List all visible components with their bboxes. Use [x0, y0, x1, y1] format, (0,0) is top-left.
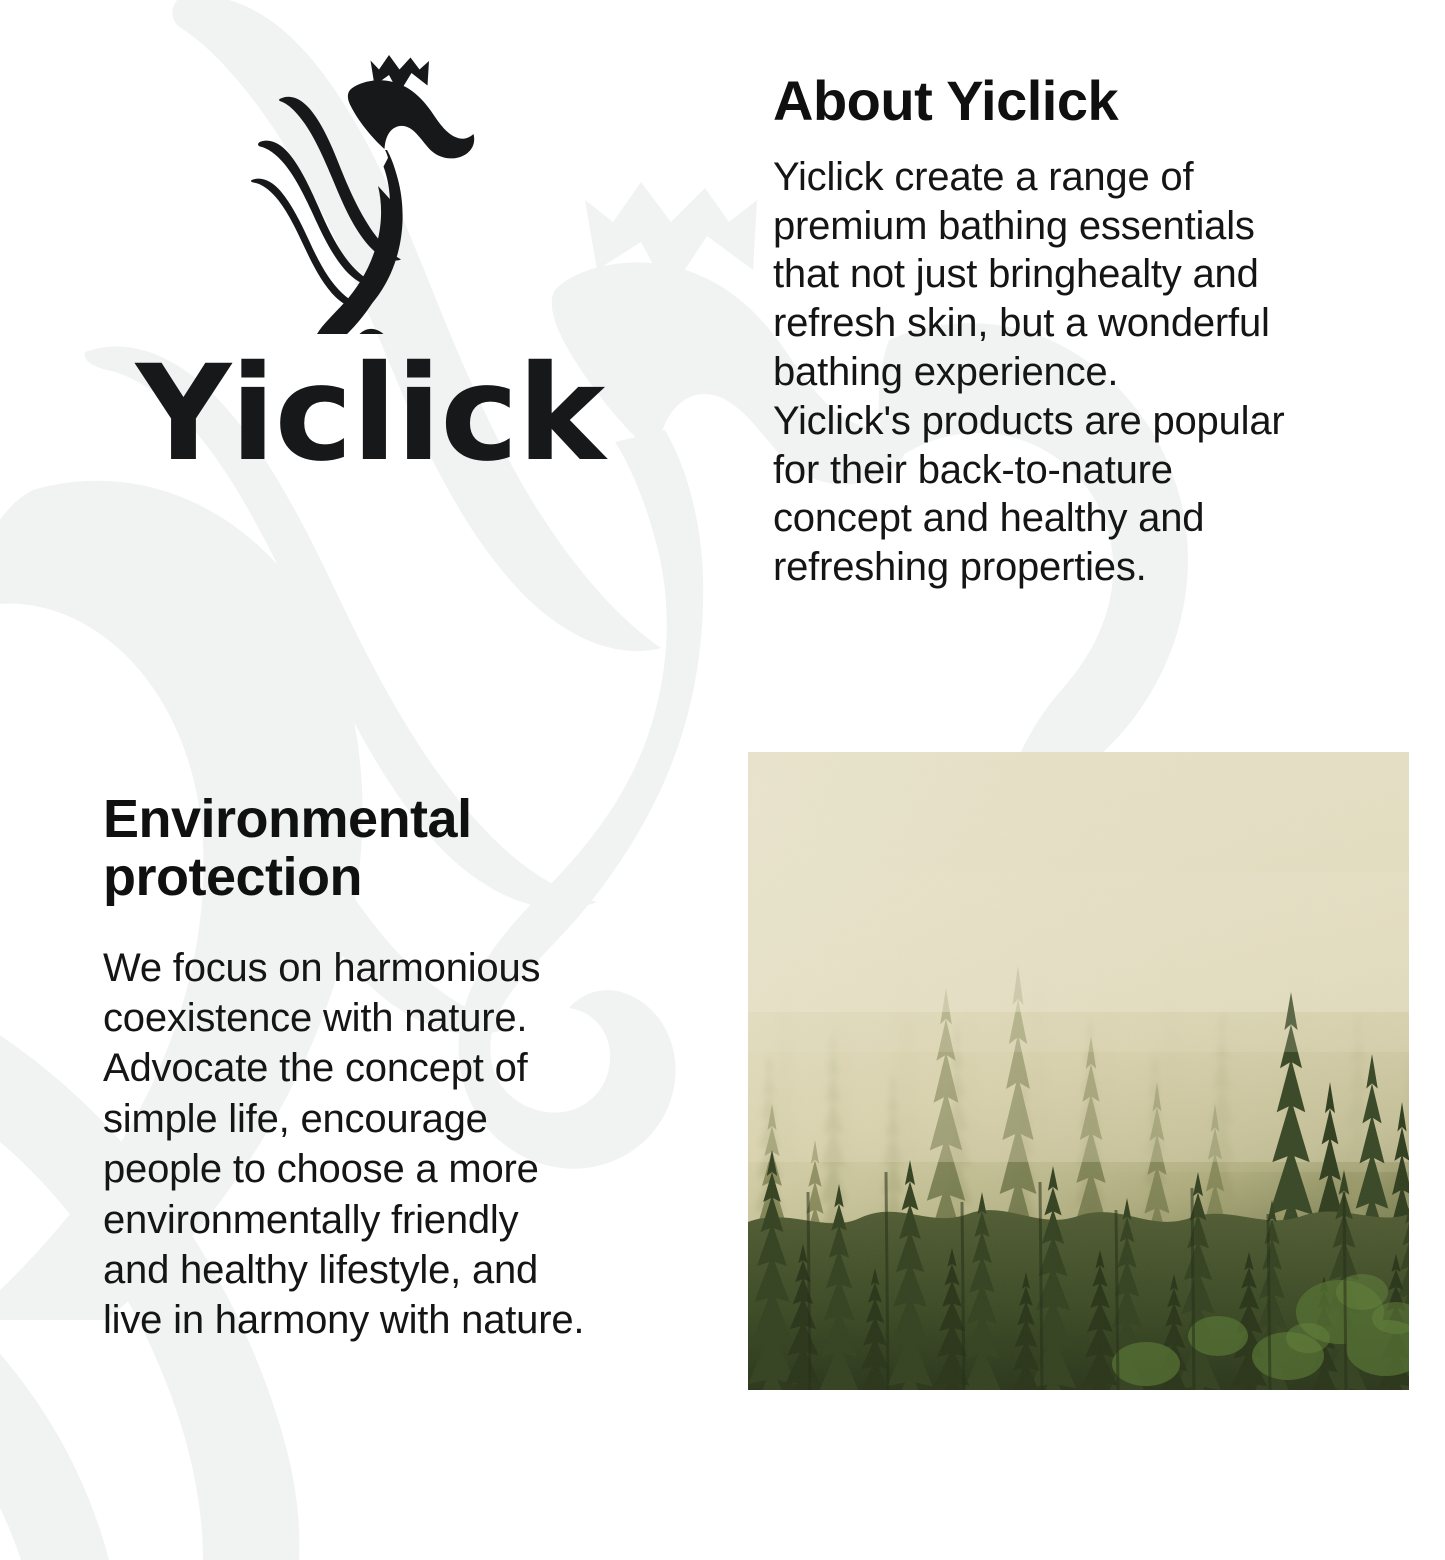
- brand-wordmark: Yiclick: [136, 348, 605, 480]
- brand-logo-block: Yiclick: [0, 52, 740, 480]
- environmental-protection-heading: Environmental protection: [103, 790, 703, 907]
- environmental-protection-section: Environmental protection We focus on har…: [103, 790, 703, 1346]
- about-heading: About Yiclick: [773, 72, 1418, 131]
- about-section: About Yiclick Yiclick create a range of …: [773, 72, 1418, 592]
- brand-card-page: Yiclick About Yiclick Yiclick create a r…: [0, 0, 1445, 1445]
- about-paragraph: Yiclick create a range of premium bathin…: [773, 153, 1418, 592]
- crowned-seahorse-logo-icon: [241, 52, 499, 334]
- misty-forest-photo: [748, 752, 1409, 1390]
- environmental-protection-paragraph: We focus on harmonious coexistence with …: [103, 943, 703, 1346]
